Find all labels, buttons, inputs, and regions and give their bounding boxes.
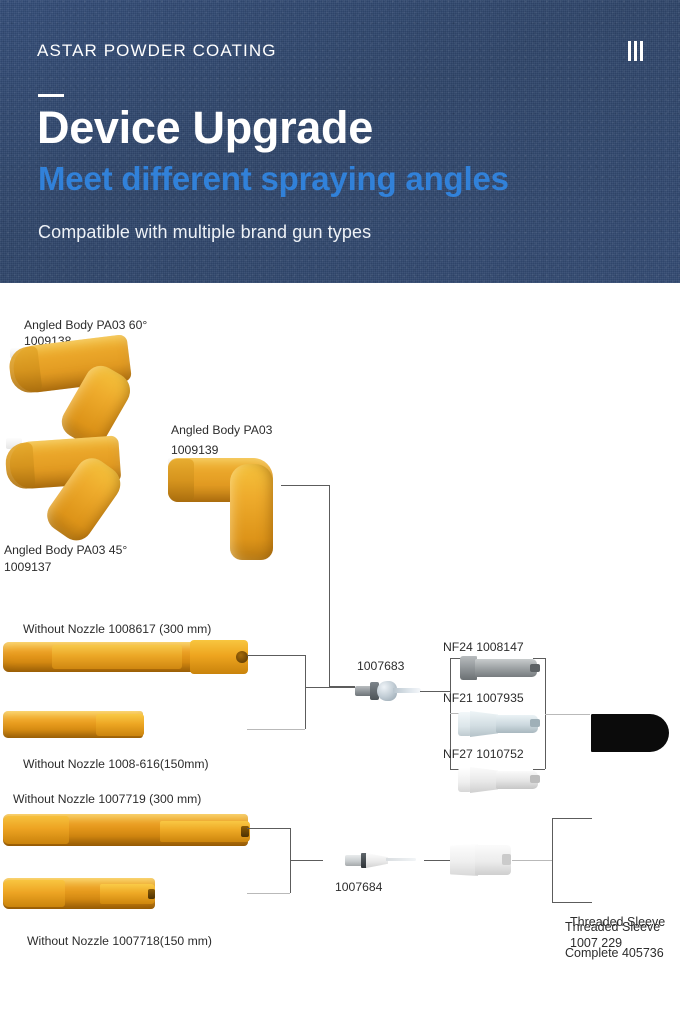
ext-1008617-mid-collar — [52, 645, 182, 669]
nozzle-body — [475, 659, 537, 677]
part-angled-body-45 — [6, 438, 166, 538]
nozzle-base — [458, 768, 472, 792]
white-nozzle-orifice — [502, 854, 511, 865]
electrode-needle — [386, 858, 416, 861]
part-angled-body-60 — [10, 348, 170, 443]
label-angled-body-pa03-line1: Angled Body PA03 — [171, 422, 272, 438]
connector-line — [533, 658, 545, 659]
part-nozzle-nf21 — [458, 711, 542, 737]
nozzle-orifice — [530, 775, 540, 783]
ext-1008617-bore — [236, 651, 248, 663]
connector-line — [305, 655, 306, 729]
page-title: Device Upgrade — [37, 104, 373, 151]
three-vertical-bars-icon[interactable] — [628, 41, 643, 61]
label-nozzle-nf24: NF24 1008147 — [443, 639, 524, 655]
nozzle-orifice — [530, 719, 540, 727]
label-angled-body-45-line1: Angled Body PA03 45° — [4, 542, 127, 558]
electrode-needle — [393, 688, 421, 693]
vertical-nose — [230, 464, 273, 560]
label-angled-body-60-line1: Angled Body PA03 60° — [24, 317, 147, 333]
page-subtitle: Meet different spraying angles — [38, 162, 509, 197]
poster-header: ASTAR POWDER COATING Device Upgrade Meet… — [0, 0, 680, 283]
brand-name: ASTAR POWDER COATING — [37, 41, 277, 61]
poster-page: ASTAR POWDER COATING Device Upgrade Meet… — [0, 0, 680, 1017]
label-angled-body-pa03-line2: 1009139 — [171, 442, 218, 458]
label-nozzle-nf21: NF21 1007935 — [443, 690, 524, 706]
ext-1008616-end-collar — [96, 714, 144, 736]
nozzle-taper — [470, 711, 498, 737]
nozzle-orifice — [530, 664, 540, 672]
ext-1007718-bore — [148, 889, 155, 899]
connector-line — [512, 860, 552, 861]
label-angled-body-45-line2: 1009137 — [4, 559, 51, 575]
white-nozzle-taper — [450, 844, 478, 876]
ext-1007719-neck — [160, 821, 250, 842]
bar-1 — [628, 41, 631, 61]
nozzle-taper — [470, 767, 498, 793]
electrode-cone — [366, 853, 388, 868]
connector-line — [533, 769, 545, 770]
connector-line — [290, 860, 323, 861]
part-angled-body-pa03 — [168, 458, 288, 568]
part-white-nozzle — [450, 844, 512, 876]
connector-line — [552, 818, 592, 819]
page-tagline: Compatible with multiple brand gun types — [38, 222, 371, 243]
part-electrode-1007683 — [355, 681, 421, 701]
bar-3 — [640, 41, 643, 61]
ext-1007719-shoulder — [3, 816, 69, 844]
connector-line — [247, 893, 290, 894]
label-ext-1007719: Without Nozzle 1007719 (300 mm) — [13, 791, 201, 807]
rear-cap — [4, 442, 35, 490]
label-ext-1008616: Without Nozzle 1008-616(150mm) — [23, 756, 209, 772]
part-nozzle-nf24 — [460, 656, 542, 680]
part-electrode-1007684 — [345, 850, 417, 870]
label-electrode-1007684: 1007684 — [335, 879, 382, 895]
connector-line — [247, 655, 305, 656]
label-threaded-sleeve-complete-line2: Complete 405736 — [565, 945, 664, 962]
rear-cap — [168, 459, 194, 501]
part-threaded-sleeve — [591, 714, 669, 752]
ext-1007718-shoulder — [3, 880, 65, 907]
connector-line — [247, 729, 305, 730]
ext-1007718-neck — [100, 884, 155, 904]
connector-line — [305, 687, 355, 688]
connector-line — [552, 818, 553, 902]
product-exploded-diagram: Angled Body PA03 60° 1009138 Angled Body… — [0, 283, 680, 1017]
connector-line — [552, 902, 592, 903]
label-ext-1007718: Without Nozzle 1007718(150 mm) — [27, 933, 212, 949]
label-electrode-1007683: 1007683 — [357, 658, 404, 674]
nozzle-base — [458, 712, 472, 736]
label-ext-1008617: Without Nozzle 1008617 (300 mm) — [23, 621, 211, 637]
label-threaded-sleeve-complete-line1: Threaded Sleeve — [565, 919, 660, 936]
connector-line — [247, 828, 290, 829]
connector-line — [545, 714, 590, 715]
title-divider-rule — [38, 94, 64, 97]
label-nozzle-nf27: NF27 1010752 — [443, 746, 524, 762]
connector-line — [329, 485, 330, 686]
bar-2 — [634, 41, 637, 61]
connector-line — [281, 485, 329, 486]
part-nozzle-nf27 — [458, 767, 542, 793]
